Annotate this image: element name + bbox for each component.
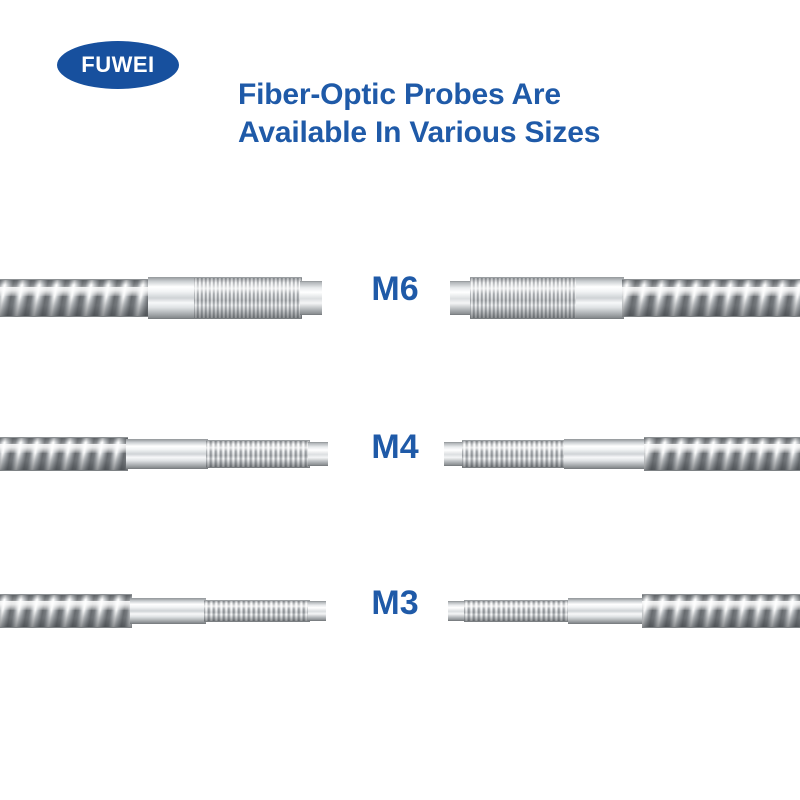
size-label-m3: M3	[340, 586, 450, 620]
size-label-m4: M4	[340, 430, 450, 464]
probe-barrel-m4-right	[564, 439, 646, 469]
probe-tip-m6-right	[450, 281, 472, 315]
probe-barrel-m6-right	[576, 277, 624, 319]
armored-cable-m3-right	[642, 594, 800, 628]
probe-barrel-m3-right	[568, 598, 644, 624]
armored-cable-m6-right	[622, 279, 800, 317]
brand-logo: FUWEI	[57, 41, 179, 89]
page-title-line-2: Available In Various Sizes	[238, 114, 778, 152]
page-title: Fiber-Optic Probes Are Available In Vari…	[238, 76, 778, 152]
probe-thread-m3-right	[464, 600, 570, 622]
product-row-m3: M3	[0, 565, 800, 657]
probe-thread-m4-right	[462, 440, 566, 468]
product-row-m4: M4	[0, 408, 800, 500]
product-row-m6: M6	[0, 250, 800, 345]
size-label-m6: M6	[340, 272, 450, 306]
brand-logo-text: FUWEI	[81, 52, 154, 78]
page-header: FUWEI Fiber-Optic Probes Are Available I…	[0, 0, 800, 175]
page-title-line-1: Fiber-Optic Probes Are	[238, 76, 778, 114]
probe-thread-m6-right	[470, 277, 578, 319]
armored-cable-m4-right	[644, 437, 800, 471]
